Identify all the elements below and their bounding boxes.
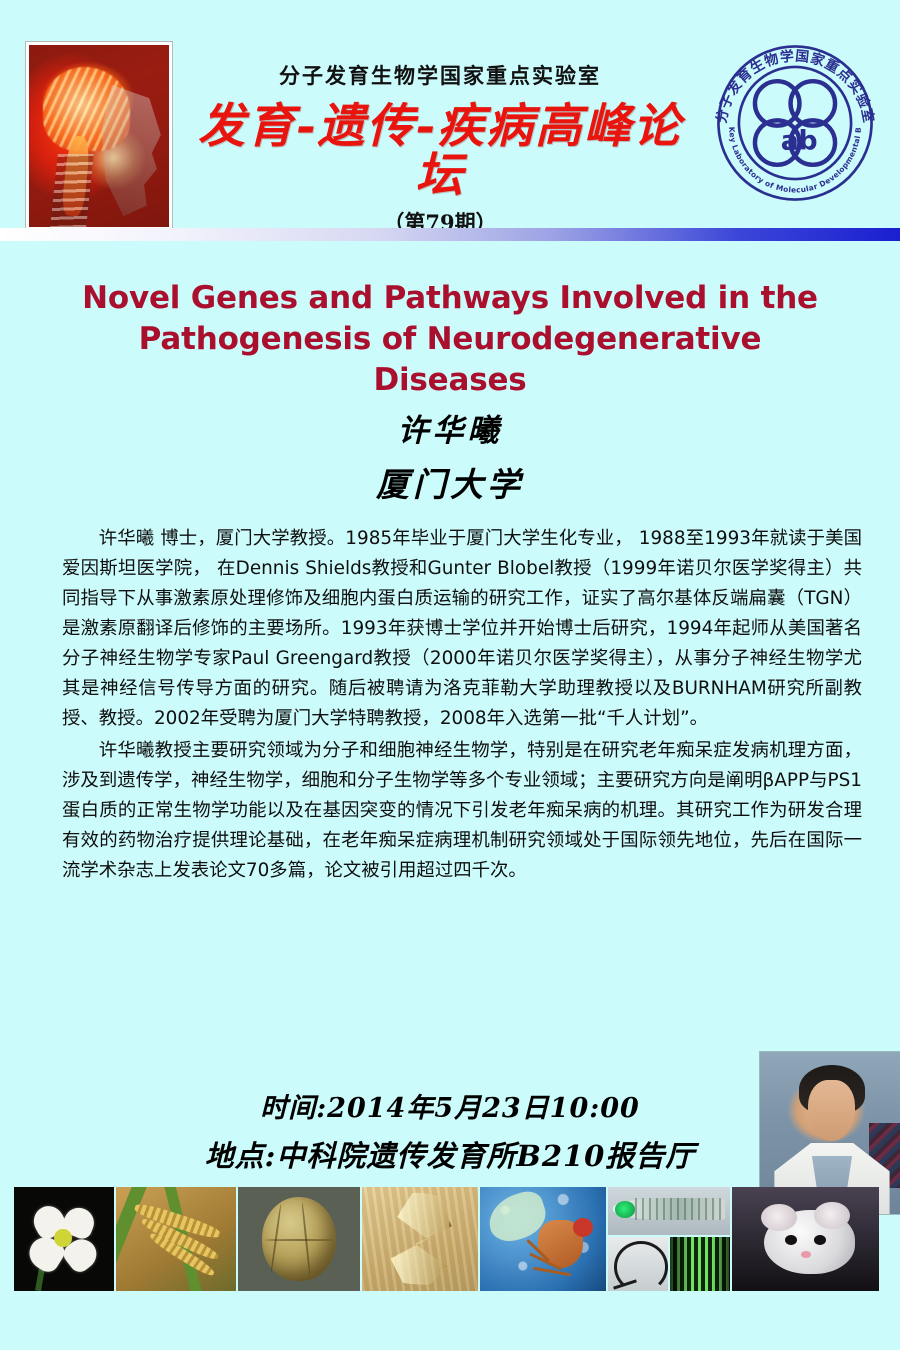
spine-shape	[50, 154, 94, 227]
forum-title: 发育-遗传-疾病高峰论坛	[180, 102, 700, 201]
zebrafish-somite-stripes	[635, 1198, 725, 1220]
talk-title-line-2: Pathogenesis of Neurodegenerative Diseas…	[60, 319, 840, 401]
arabidopsis-flower-image	[14, 1187, 114, 1291]
bio-paragraph-2: 许华曦教授主要研究领域为分子和细胞神经生物学，特别是在研究老年痴呆症发病机理方面…	[62, 736, 862, 886]
zebrafish-eye-shape	[615, 1201, 635, 1217]
speaker-affiliation: 厦门大学	[0, 458, 900, 506]
mouse-eye-shape	[785, 1235, 797, 1245]
mouse-ear-shape	[761, 1204, 796, 1231]
head-profile-shape	[99, 85, 163, 216]
laboratory-name: 分子发育生物学国家重点实验室	[180, 60, 700, 90]
event-location: 地点:中科院遗传发育所B210报告厅	[0, 1133, 900, 1175]
svg-text:b: b	[799, 126, 818, 157]
fluorescence-micrograph-panel	[670, 1237, 730, 1291]
embryo-cell-boundary	[265, 1239, 333, 1241]
mouse-ear-shape	[814, 1202, 849, 1229]
laboratory-seal-logo: a b 分子发育生物学国家重点实验室 State Key Laboratory …	[706, 34, 884, 212]
poster-root: 分子发育生物学国家重点实验室 发育-遗传-疾病高峰论坛 （第79期）	[0, 0, 900, 1350]
panel-vignette	[670, 1237, 730, 1291]
header-divider-bar	[0, 228, 900, 241]
c-elegans-nematode-image	[362, 1187, 478, 1291]
header-text-block: 分子发育生物学国家重点实验室 发育-遗传-疾病高峰论坛 （第79期）	[180, 60, 700, 237]
zebrafish-embryo-panel	[608, 1237, 668, 1291]
speaker-name: 许华曦	[0, 405, 900, 450]
embryo-cleavage-stage-image	[238, 1187, 360, 1291]
mouse-nose-shape	[801, 1251, 811, 1257]
model-organism-image-strip	[14, 1187, 885, 1291]
brain-head-illustration-image	[26, 42, 172, 230]
zebrafish-larva-panel	[608, 1187, 730, 1235]
zebrafish-larva-image	[608, 1187, 730, 1291]
event-details: 时间:2014年5月23日10:00 地点:中科院遗传发育所B210报告厅	[0, 1086, 900, 1175]
poster-header: 分子发育生物学国家重点实验室 发育-遗传-疾病高峰论坛 （第79期）	[0, 0, 900, 232]
rice-leaf-shape	[116, 1187, 148, 1291]
svg-text:a: a	[781, 126, 799, 157]
bio-paragraph-1: 许华曦 博士，厦门大学教授。1985年毕业于厦门大学生化专业， 1988至199…	[62, 524, 862, 734]
rice-panicle-image	[116, 1187, 236, 1291]
speaker-biography: 许华曦 博士，厦门大学教授。1985年毕业于厦门大学生化专业， 1988至199…	[62, 524, 862, 888]
drosophila-fly-image	[480, 1187, 606, 1291]
event-time: 时间:2014年5月23日10:00	[0, 1086, 900, 1125]
talk-title-line-1: Novel Genes and Pathways Involved in the	[60, 278, 840, 319]
zebrafish-lower-panels	[608, 1237, 730, 1291]
flower-center-shape	[54, 1229, 72, 1248]
laboratory-mouse-image	[732, 1187, 879, 1291]
talk-title: Novel Genes and Pathways Involved in the…	[60, 278, 840, 401]
